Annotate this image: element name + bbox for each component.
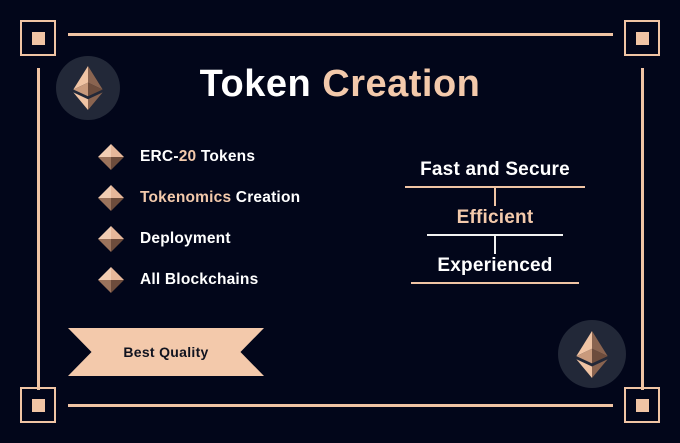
diamond-icon — [98, 226, 124, 252]
feature-list: ERC-20 Tokens Tokenomics Creation — [98, 136, 398, 300]
frame-line-top — [68, 33, 613, 36]
benefit-underline — [427, 234, 563, 236]
frame-line-left — [37, 68, 40, 390]
frame-line-right — [641, 68, 644, 390]
corner-square-fill — [32, 399, 45, 412]
page-title-accent: Creation — [322, 63, 480, 105]
list-item: Deployment — [98, 218, 398, 259]
benefit-item-efficient: Efficient — [380, 206, 610, 236]
corner-square-top-left — [20, 20, 56, 56]
corner-square-bottom-left — [20, 387, 56, 423]
list-item: ERC-20 Tokens — [98, 136, 398, 177]
page-title-primary: Token — [200, 63, 312, 105]
label-tail: Tokens — [196, 148, 255, 165]
diamond-icon — [98, 185, 124, 211]
ethereum-icon — [576, 331, 608, 378]
benefit-label: Fast and Secure — [380, 158, 610, 182]
label-accent: 20 — [179, 148, 197, 165]
benefit-item-experienced: Experienced — [380, 254, 610, 284]
benefit-underline — [411, 282, 579, 284]
page-title: Token Creation — [0, 60, 680, 108]
benefit-item-fast-and-secure: Fast and Secure — [380, 158, 610, 188]
list-item-label: Deployment — [140, 230, 231, 248]
benefit-label: Efficient — [380, 206, 610, 230]
list-item-label: All Blockchains — [140, 271, 258, 289]
label-accent: Tokenomics — [140, 189, 231, 206]
tree-connector-bottom — [494, 236, 496, 254]
label-lead: All Blockchains — [140, 271, 258, 288]
corner-square-fill — [636, 399, 649, 412]
diamond-icon — [98, 144, 124, 170]
ribbon-label: Best Quality — [123, 344, 208, 360]
label-tail: Creation — [231, 189, 300, 206]
corner-square-bottom-right — [624, 387, 660, 423]
benefit-underline — [405, 186, 585, 188]
list-item-label: Tokenomics Creation — [140, 189, 300, 207]
benefit-tree: Fast and Secure Efficient Experienced — [380, 158, 610, 284]
corner-square-top-right — [624, 20, 660, 56]
list-item: Tokenomics Creation — [98, 177, 398, 218]
benefit-label: Experienced — [380, 254, 610, 278]
tree-connector-top — [494, 188, 496, 206]
label-lead: ERC- — [140, 148, 179, 165]
label-lead: Deployment — [140, 230, 231, 247]
diamond-icon — [98, 267, 124, 293]
best-quality-ribbon: Best Quality — [68, 328, 264, 376]
poster-canvas: Token Creation ERC-20 Tokens — [0, 0, 680, 443]
corner-square-fill — [636, 32, 649, 45]
list-item: All Blockchains — [98, 259, 398, 300]
corner-square-fill — [32, 32, 45, 45]
ethereum-logo-bottom-right — [558, 320, 626, 388]
list-item-label: ERC-20 Tokens — [140, 148, 255, 166]
frame-line-bottom — [68, 404, 613, 407]
